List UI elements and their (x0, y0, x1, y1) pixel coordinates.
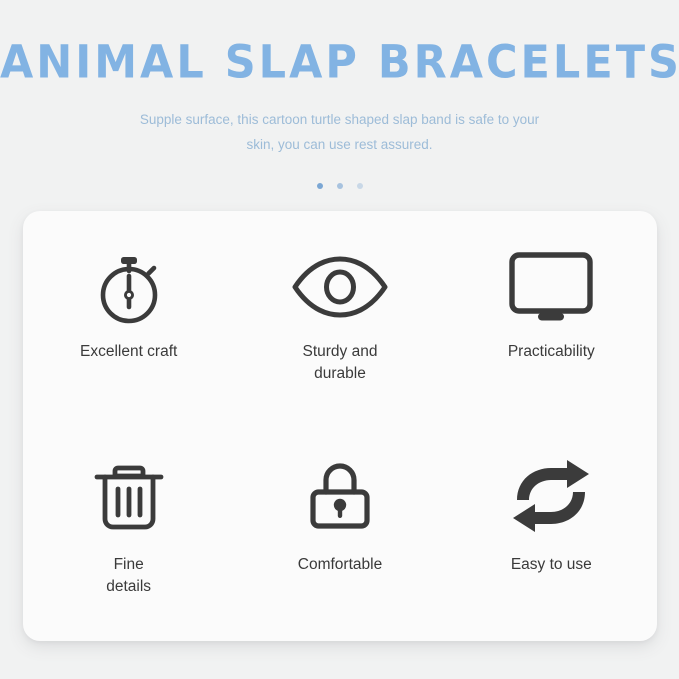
lock-icon (300, 454, 380, 538)
feature-item-sturdy-and-durable: Sturdy and durable (234, 211, 445, 426)
trash-icon (87, 454, 171, 538)
feature-label: Fine details (106, 554, 151, 598)
feature-label: Easy to use (511, 554, 592, 576)
carousel-dots (0, 183, 679, 189)
feature-label: Practicability (508, 341, 595, 363)
feature-label: Excellent craft (80, 341, 177, 363)
feature-label: Comfortable (298, 554, 382, 576)
feature-label: Sturdy and durable (303, 341, 378, 385)
refresh-loop-icon (505, 454, 597, 538)
hero-banner: ANIMAL SLAP BRACELETS Supple surface, th… (0, 0, 679, 211)
page-title: ANIMAL SLAP BRACELETS (0, 36, 679, 89)
carousel-dot-1[interactable] (317, 183, 323, 189)
stopwatch-icon (89, 245, 169, 329)
feature-item-excellent-craft: Excellent craft (23, 211, 234, 426)
carousel-dot-2[interactable] (337, 183, 343, 189)
features-grid: Excellent craft Sturdy and durable (23, 211, 657, 641)
feature-item-comfortable: Comfortable (234, 426, 445, 641)
features-card: Excellent craft Sturdy and durable (23, 211, 657, 641)
hero-subtitle: Supple surface, this cartoon turtle shap… (130, 107, 550, 157)
feature-item-fine-details: Fine details (23, 426, 234, 641)
monitor-icon (505, 245, 597, 329)
feature-item-easy-to-use: Easy to use (446, 426, 657, 641)
feature-item-practicability: Practicability (446, 211, 657, 426)
carousel-dot-3[interactable] (357, 183, 363, 189)
eye-icon (287, 245, 393, 329)
